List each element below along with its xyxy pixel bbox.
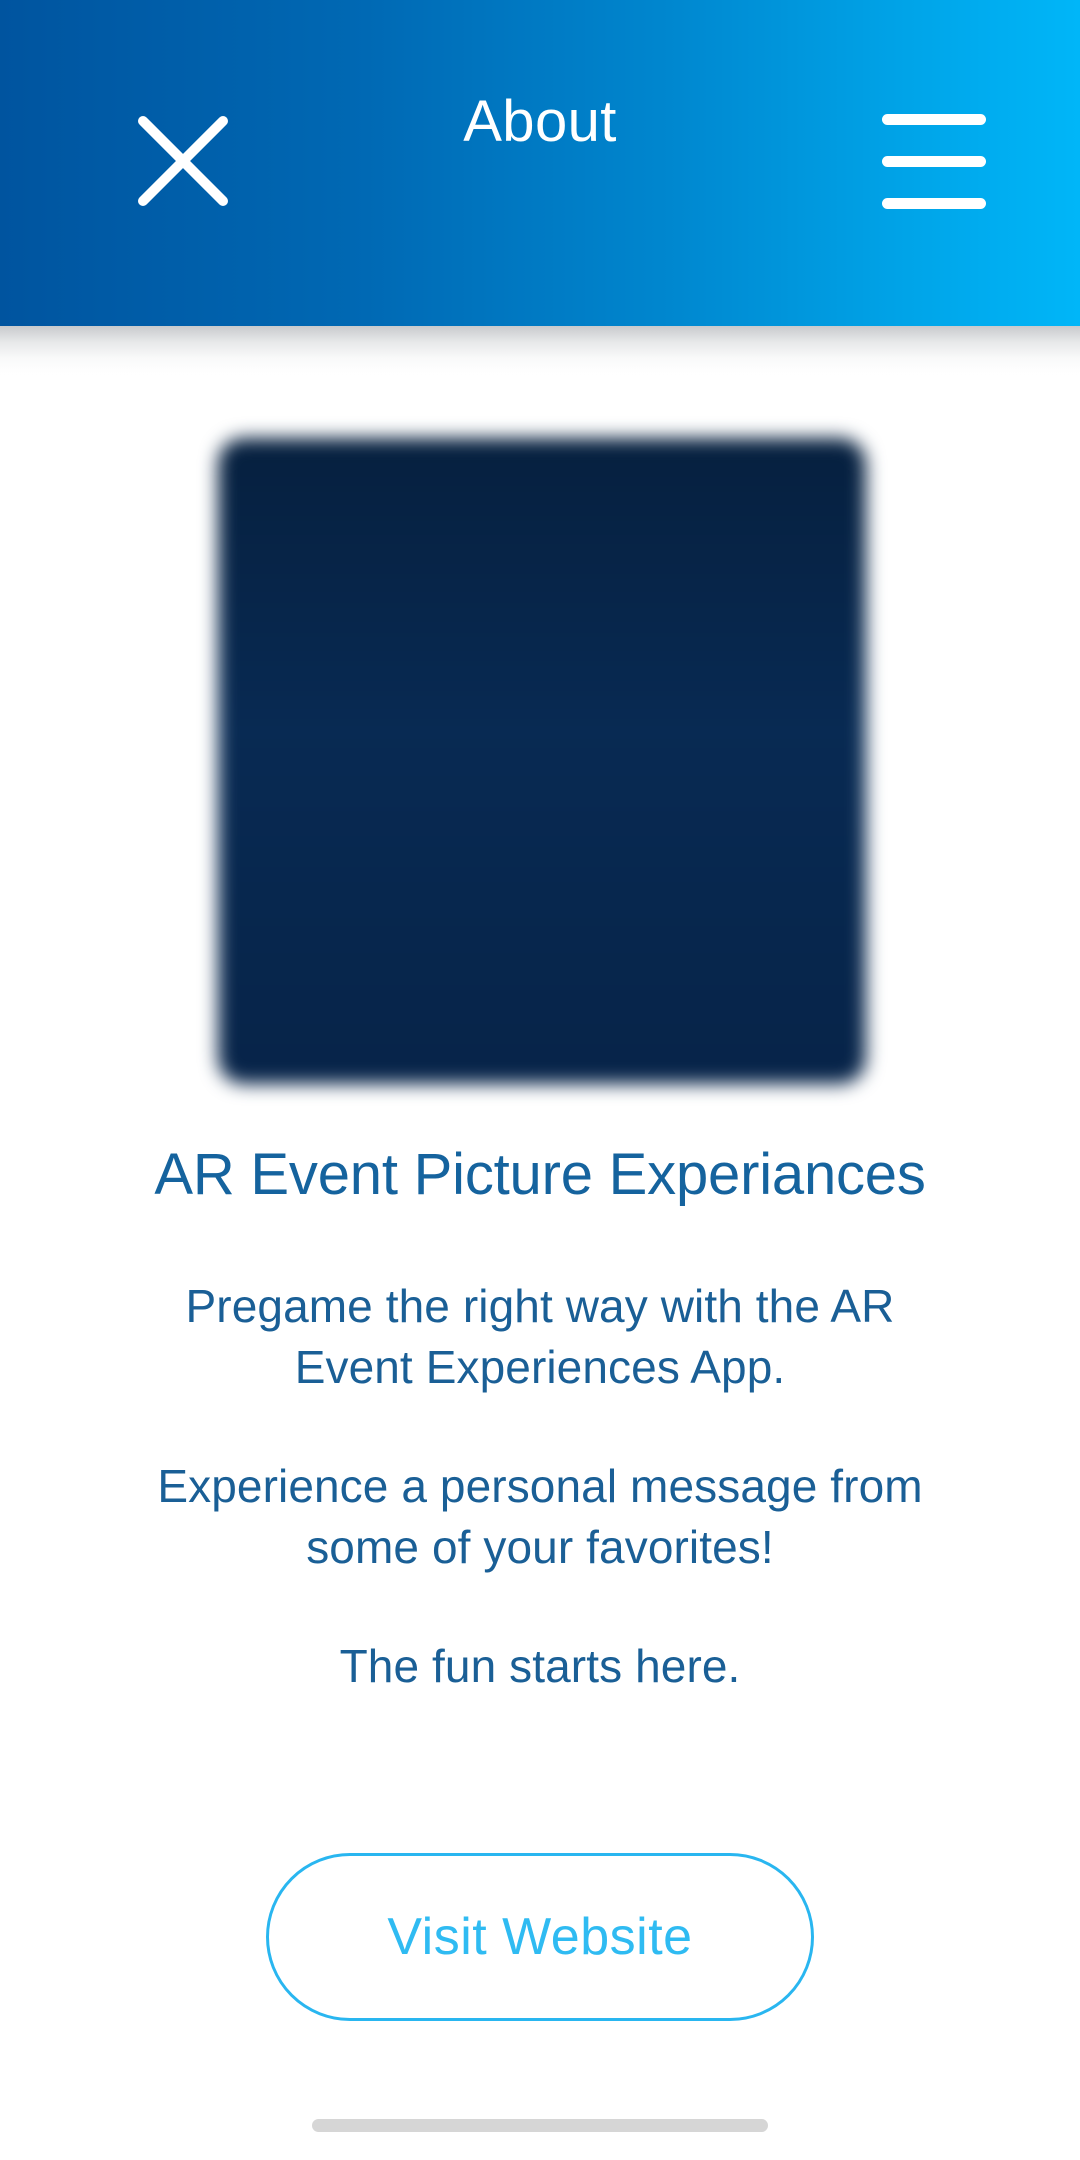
hamburger-menu-icon-bar-2 [882, 156, 986, 167]
home-indicator[interactable] [312, 2119, 768, 2132]
hamburger-menu-icon-bar-3 [882, 198, 986, 209]
about-heading: AR Event Picture Experiances [0, 1140, 1080, 1210]
about-screen: About AR Event Picture Experiances Prega… [0, 0, 1080, 2160]
hamburger-menu-icon-bar-1 [882, 114, 986, 125]
about-paragraph-2: Experience a personal message from some … [0, 1456, 1080, 1578]
header-drop-shadow [0, 326, 1080, 372]
app-header: About [0, 0, 1080, 326]
visit-website-button[interactable]: Visit Website [266, 1853, 814, 2021]
about-paragraph-3: The fun starts here. [0, 1636, 1080, 1697]
hero-image-container [218, 438, 866, 1084]
about-paragraph-1: Pregame the right way with the AR Event … [0, 1276, 1080, 1398]
about-content: AR Event Picture Experiances Pregame the… [0, 1140, 1080, 1697]
menu-button[interactable] [880, 104, 992, 216]
app-artwork-image [218, 438, 866, 1084]
visit-website-label: Visit Website [387, 1907, 692, 1967]
